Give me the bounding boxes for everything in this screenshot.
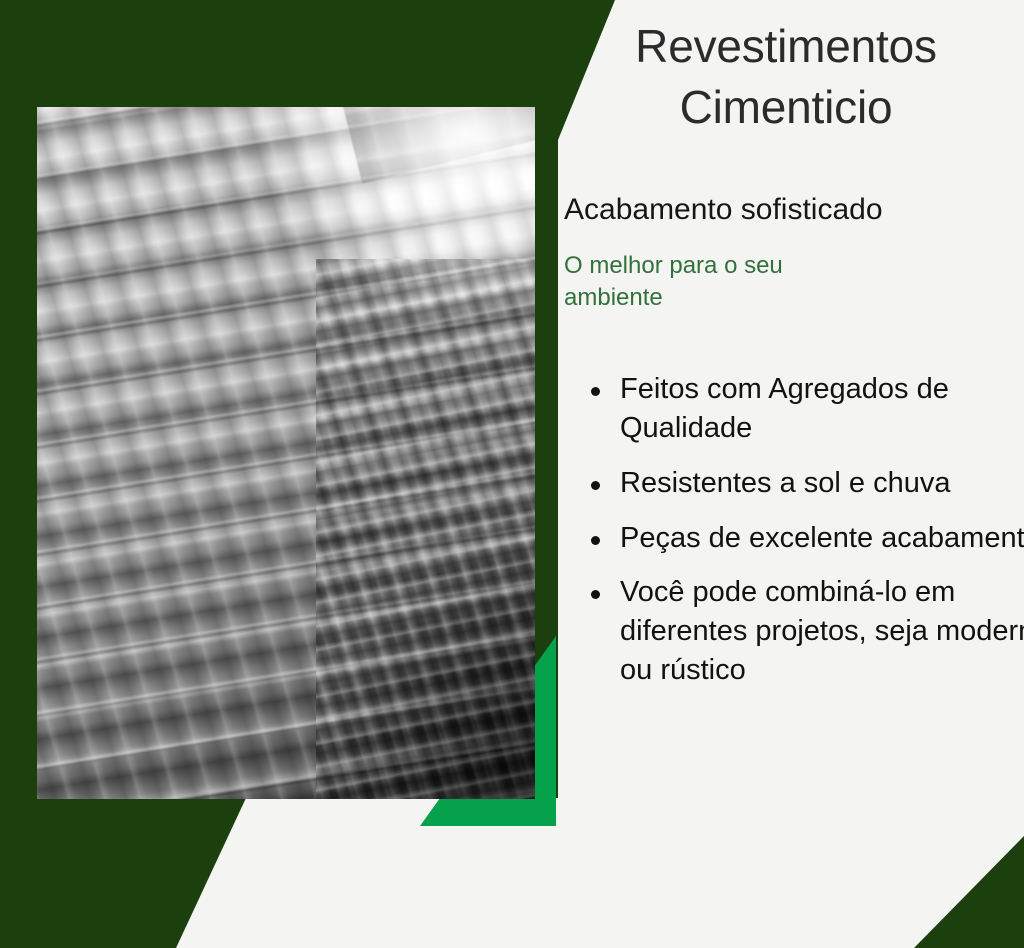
list-item: Você pode combiná-lo em diferentes proje… [620, 573, 1024, 690]
photo-tonal-grade [37, 107, 535, 799]
list-item: Peças de excelente acabamento [620, 519, 1024, 558]
list-item: Feitos com Agregados de Qualidade [620, 370, 1024, 448]
subtitle: Acabamento sofisticado [564, 192, 883, 228]
list-item: Resistentes a sol e chuva [620, 464, 1024, 503]
tagline: O melhor para o seu ambiente [564, 250, 864, 313]
text-column: Revestimentos Cimenticio Acabamento sofi… [560, 0, 1024, 948]
product-photo [37, 107, 535, 799]
poster-canvas: Revestimentos Cimenticio Acabamento sofi… [0, 0, 1024, 948]
feature-list: Feitos com Agregados de Qualidade Resist… [572, 370, 1024, 706]
page-title: Revestimentos Cimenticio [560, 16, 1012, 138]
